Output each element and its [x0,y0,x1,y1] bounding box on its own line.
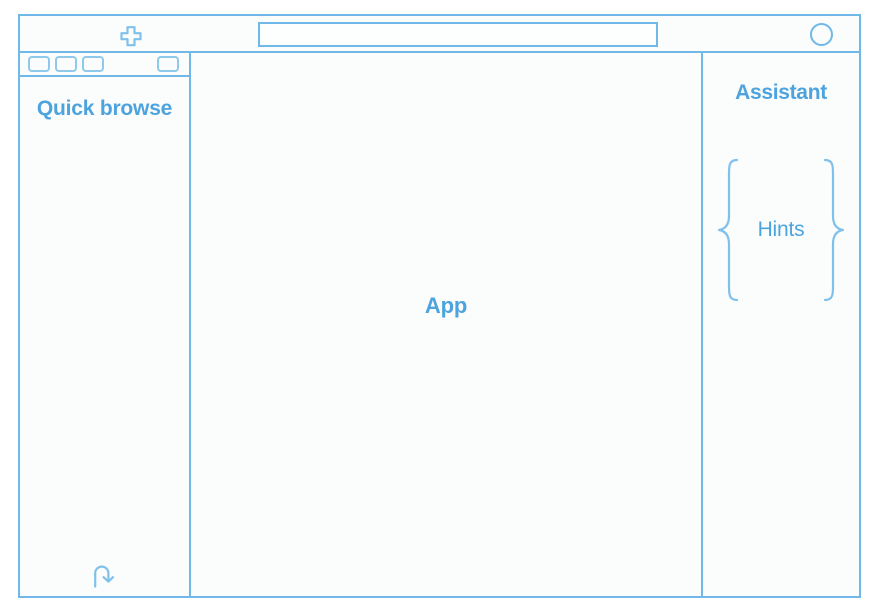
top-bar [20,16,859,53]
sidebar-tool-3[interactable] [82,56,104,72]
sidebar-tool-1[interactable] [28,56,50,72]
sidebar-title: Quick browse [30,96,179,123]
plus-icon[interactable] [115,25,147,47]
sidebar-panel: Quick browse [20,53,191,596]
main-panel-title: App [425,293,467,319]
wireframe-root: Quick browse App [0,0,879,616]
sidebar-footer [20,562,189,590]
sidebar-tool-right[interactable] [157,56,179,72]
search-input[interactable] [258,22,658,47]
u-turn-arrow-icon[interactable] [90,562,120,590]
sidebar-tool-2[interactable] [55,56,77,72]
assistant-panel: Assistant Hints [703,53,859,596]
right-brace-icon [820,158,846,302]
circle-avatar-icon[interactable] [810,23,833,46]
sidebar-toolbar [20,53,189,77]
hints-block: Hints [715,158,847,302]
left-brace-icon [716,158,742,302]
body-row: Quick browse App [20,53,859,596]
main-app-panel[interactable]: App [191,53,703,596]
hints-label: Hints [758,218,805,242]
sidebar-content: Quick browse [20,77,189,596]
window-frame: Quick browse App [18,14,861,598]
assistant-title: Assistant [735,81,827,105]
